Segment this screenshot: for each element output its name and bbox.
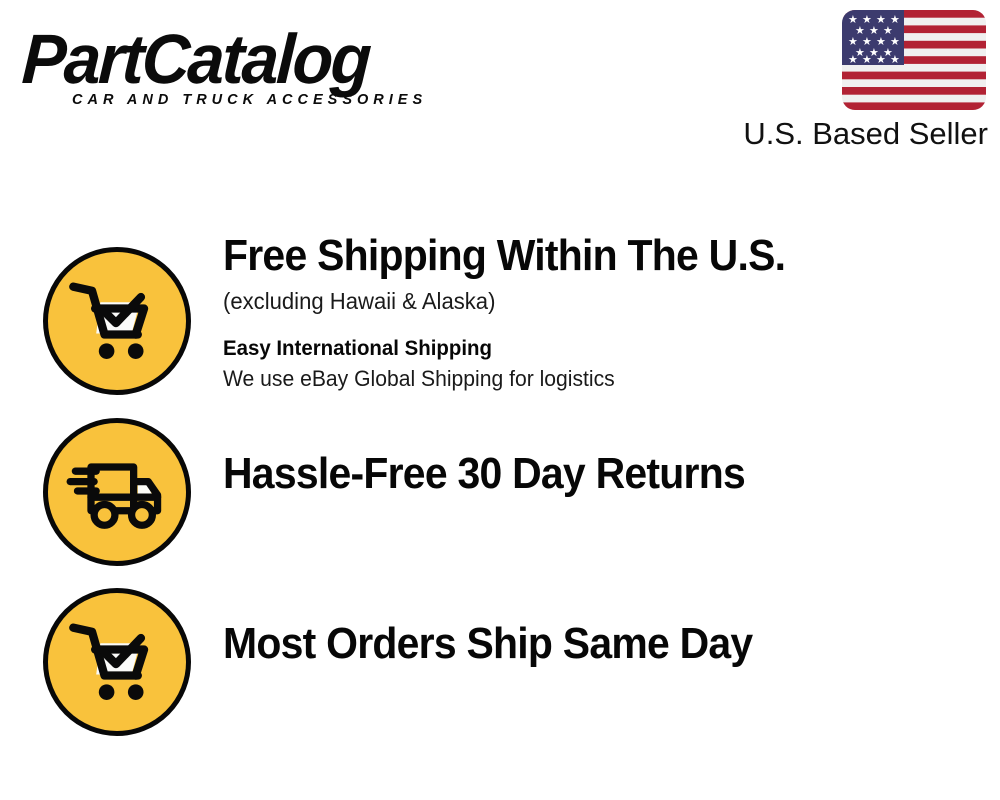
delivery-truck-icon [43, 418, 191, 566]
us-based-seller-badge: ★ ★ ★ ★ ★ ★ ★ ★ ★ ★ ★ ★ ★ [688, 8, 988, 152]
svg-text:★: ★ [890, 53, 900, 66]
feature-text-block: Most Orders Ship Same Day [223, 618, 990, 670]
feature-subhead-note: We use eBay Global Shipping for logistic… [223, 364, 959, 393]
us-based-seller-label: U.S. Based Seller [688, 116, 988, 152]
feature-headline: Most Orders Ship Same Day [223, 618, 936, 670]
feature-row: Hassle-Free 30 Day Returns [0, 418, 1000, 573]
banner-header: PartCatalog CAR AND TRUCK ACCESSORIES [0, 0, 1000, 175]
promo-banner: PartCatalog CAR AND TRUCK ACCESSORIES [0, 0, 1000, 800]
shopping-cart-check-icon [43, 588, 191, 736]
svg-text:★: ★ [876, 53, 886, 66]
svg-text:★: ★ [862, 53, 872, 66]
shopping-cart-check-icon [43, 247, 191, 395]
feature-text-block: Hassle-Free 30 Day Returns [223, 448, 990, 500]
svg-text:★: ★ [848, 53, 858, 66]
us-flag-icon: ★ ★ ★ ★ ★ ★ ★ ★ ★ ★ ★ ★ ★ [840, 8, 988, 112]
brand-tagline: CAR AND TRUCK ACCESSORIES [72, 92, 494, 108]
feature-text-block: Free Shipping Within The U.S. (excluding… [223, 230, 990, 393]
brand-wordmark: PartCatalog [20, 22, 470, 96]
feature-headline: Hassle-Free 30 Day Returns [223, 448, 936, 500]
feature-row: Free Shipping Within The U.S. (excluding… [0, 230, 1000, 400]
feature-row: Most Orders Ship Same Day [0, 588, 1000, 743]
feature-headline: Free Shipping Within The U.S. [223, 230, 936, 282]
feature-subline: (excluding Hawaii & Alaska) [223, 286, 959, 316]
feature-subhead-strong: Easy International Shipping [223, 334, 952, 362]
brand-logo: PartCatalog CAR AND TRUCK ACCESSORIES [24, 22, 494, 117]
